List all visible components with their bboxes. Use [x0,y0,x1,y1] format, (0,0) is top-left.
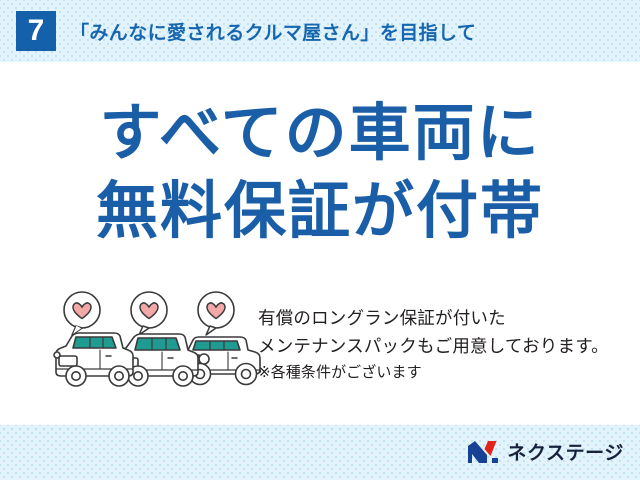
footer-band: ネクステージ [0,425,640,480]
heart-bubble-3 [198,292,234,335]
brand-logo-text: ネクステージ [507,438,624,465]
headline-line-2: 無料保証が付帯 [0,174,640,250]
headline-line-1: すべての車両に [0,96,640,172]
content-row: 有償のロングラン保証が付いた メンテナンスパックもご用意しております。 ※各種条… [0,290,640,405]
section-number-badge: 7 [16,11,56,51]
body-line-3-disclaimer: ※各種条件がございます [258,361,634,385]
body-line-1: 有償のロングラン保証が付いた [258,304,634,332]
brand-logo: ネクステージ [466,438,624,465]
page-title: すべての車両に 無料保証が付帯 [0,96,640,249]
header-content: 7 「みんなに愛されるクルマ屋さん」を目指して [0,0,640,62]
promo-banner: 7 「みんなに愛されるクルマ屋さん」を目指して すべての車両に 無料保証が付帯 [0,0,640,480]
body-line-2: メンテナンスパックもご用意しております。 [258,332,634,360]
nexstage-n-mark-icon [466,439,500,465]
three-cars-with-heart-bubbles-illustration [52,290,262,402]
body-copy: 有償のロングラン保証が付いた メンテナンスパックもご用意しております。 ※各種条… [258,304,634,385]
heart-bubble-2 [131,292,167,335]
car-kei-wagon [54,333,133,386]
header-band: 7 「みんなに愛されるクルマ屋さん」を目指して [0,0,640,62]
header-title: 「みんなに愛されるクルマ屋さん」を目指して [70,18,476,45]
heart-bubble-1 [64,292,100,335]
